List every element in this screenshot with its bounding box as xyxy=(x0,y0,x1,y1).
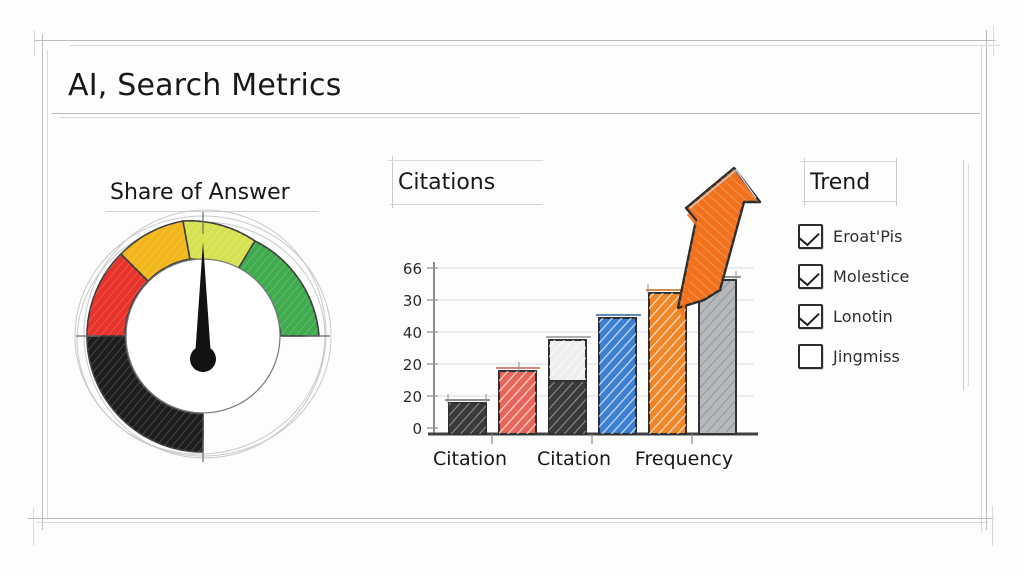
trend-item-1[interactable]: Molestice xyxy=(798,256,978,296)
share-of-answer-gauge[interactable] xyxy=(58,208,348,458)
citations-bar-chart[interactable]: 66 30 40 20 20 0 xyxy=(386,150,776,490)
trend-item-3[interactable]: Jingmiss xyxy=(798,336,978,376)
cat-label-2: Frequency xyxy=(635,448,733,470)
sketch-canvas: AI, Search Metrics Share of Answer xyxy=(0,0,1024,576)
cat-label-1: Citation xyxy=(537,448,611,470)
trend-item-2[interactable]: Lonotin xyxy=(798,296,978,336)
frame-bottom-border xyxy=(28,518,994,519)
frame-bottom-overshoot xyxy=(36,522,988,523)
trend-item-label-0: Eroat'Pis xyxy=(833,227,903,246)
frame-corner-tick-tr xyxy=(993,26,994,56)
page-title-rule-echo xyxy=(60,117,520,118)
gauge-svg xyxy=(58,208,348,458)
checkbox-1[interactable] xyxy=(798,264,823,289)
frame-right-overshoot xyxy=(981,46,982,532)
page-title-rule xyxy=(52,113,980,114)
ytick-label-2: 40 xyxy=(403,324,422,342)
chart-y-ticks xyxy=(427,268,438,428)
checkbox-3[interactable] xyxy=(798,344,823,369)
bar-1[interactable] xyxy=(445,394,490,434)
trend-item-label-3: Jingmiss xyxy=(833,347,900,366)
trend-item-label-2: Lonotin xyxy=(833,307,893,326)
bar-4[interactable] xyxy=(596,315,641,434)
frame-right-border xyxy=(986,30,987,530)
cat-label-0: Citation xyxy=(433,448,507,470)
frame-top-border xyxy=(34,40,996,41)
gauge-panel-title: Share of Answer xyxy=(110,180,290,205)
checkbox-0[interactable] xyxy=(798,224,823,249)
frame-top-overshoot xyxy=(70,45,1000,46)
ytick-label-3: 20 xyxy=(403,356,422,374)
frame-corner-tick-bl xyxy=(33,508,34,546)
ytick-label-0: 66 xyxy=(403,260,422,278)
trend-item-label-1: Molestice xyxy=(833,267,909,286)
bar-2[interactable] xyxy=(496,362,540,434)
trend-checklist[interactable]: Eroat'Pis Molestice Lonotin Jingmiss xyxy=(798,158,978,398)
page-title: AI, Search Metrics xyxy=(68,68,342,103)
frame-corner-tick-br xyxy=(992,506,993,546)
bar-chart-svg: 66 30 40 20 20 0 xyxy=(386,150,776,490)
ytick-label-5: 0 xyxy=(412,420,422,438)
frame-left-border xyxy=(42,34,43,530)
bar-3[interactable] xyxy=(546,337,591,434)
frame-corner-tick-tl xyxy=(34,30,35,56)
checkbox-2[interactable] xyxy=(798,304,823,329)
ytick-label-1: 30 xyxy=(403,292,422,310)
frame-left-overshoot xyxy=(47,50,48,520)
ytick-label-4: 20 xyxy=(403,388,422,406)
trend-item-0[interactable]: Eroat'Pis xyxy=(798,216,978,256)
